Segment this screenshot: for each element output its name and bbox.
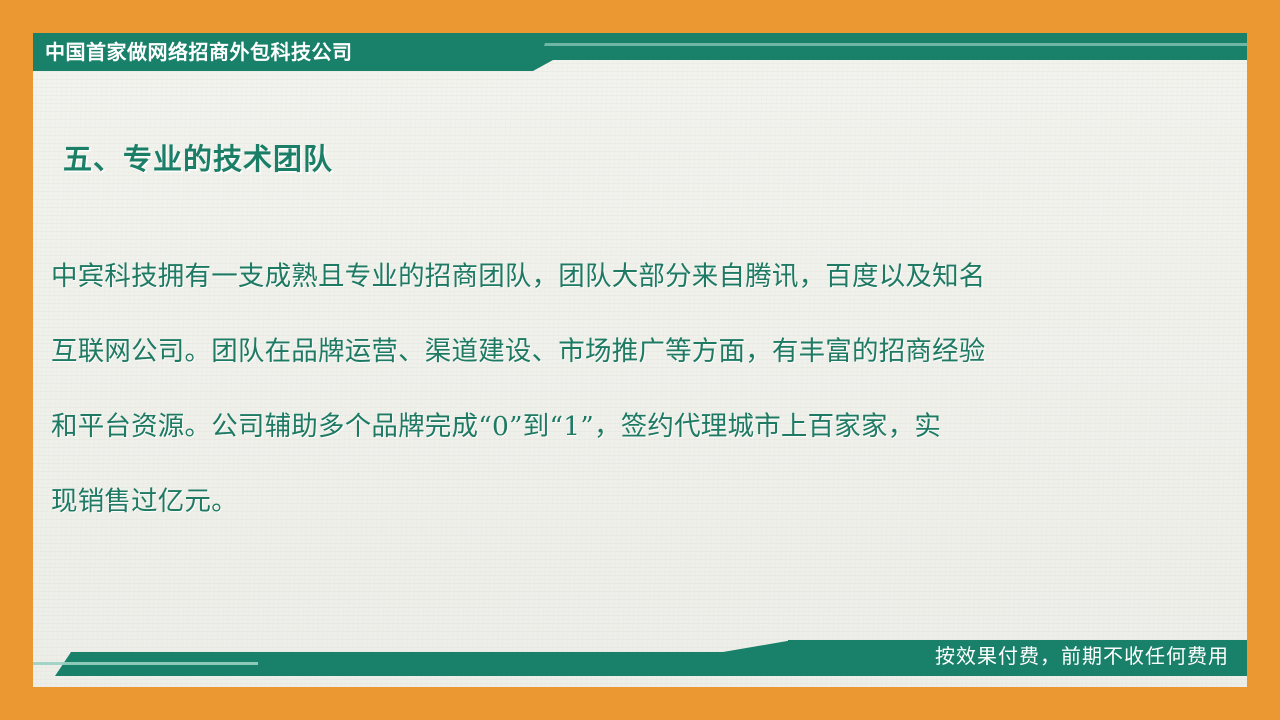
body-line: 和平台资源。公司辅助多个品牌完成“0”到“1”，签约代理城市上百家家，实 — [51, 389, 1211, 464]
body-line: 互联网公司。团队在品牌运营、渠道建设、市场推广等方面，有丰富的招商经验 — [51, 314, 1211, 389]
header-title: 中国首家做网络招商外包科技公司 — [45, 33, 353, 71]
footer-tagline: 按效果付费，前期不收任何费用 — [935, 640, 1229, 669]
main-content: 五、专业的技术团队 中宾科技拥有一支成熟且专业的招商团队，团队大部分来自腾讯，百… — [33, 79, 1247, 649]
footer-banner: 按效果付费，前期不收任何费用 — [33, 621, 1247, 687]
slide-content-area: 中国首家做网络招商外包科技公司 五、专业的技术团队 中宾科技拥有一支成熟且专业的… — [33, 33, 1247, 687]
body-line: 中宾科技拥有一支成熟且专业的招商团队，团队大部分来自腾讯，百度以及知名 — [51, 239, 1211, 314]
section-heading: 五、专业的技术团队 — [63, 136, 333, 178]
body-line: 现销售过亿元。 — [51, 464, 1211, 539]
header-banner: 中国首家做网络招商外包科技公司 — [33, 33, 1247, 79]
slide-canvas: 中国首家做网络招商外包科技公司 五、专业的技术团队 中宾科技拥有一支成熟且专业的… — [0, 0, 1280, 720]
body-paragraph: 中宾科技拥有一支成熟且专业的招商团队，团队大部分来自腾讯，百度以及知名 互联网公… — [51, 239, 1211, 539]
